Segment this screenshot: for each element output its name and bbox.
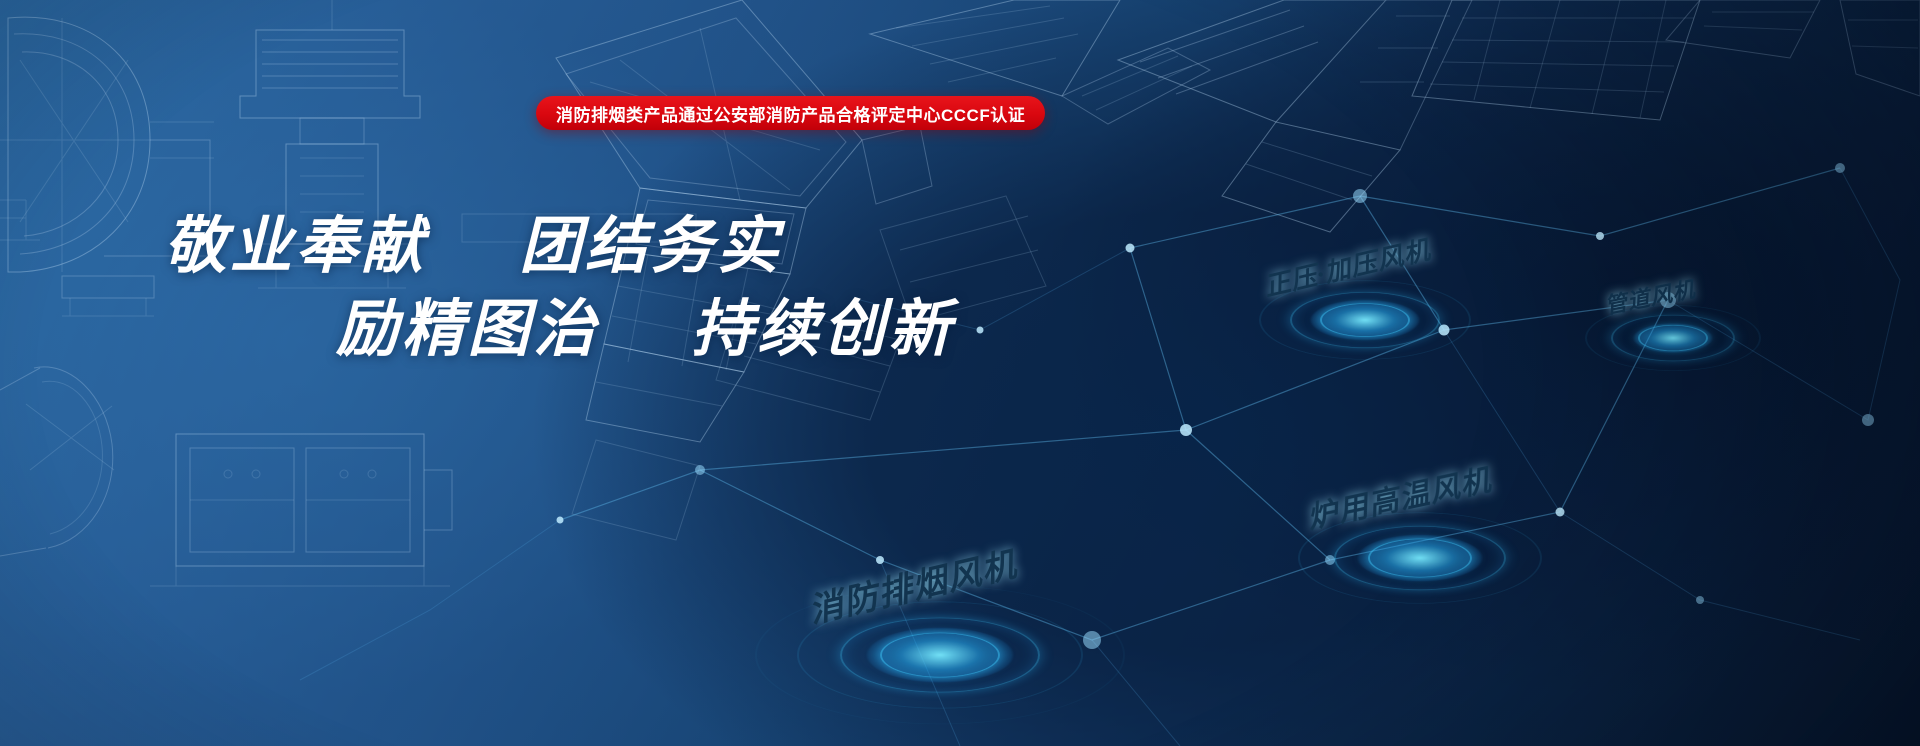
air-handling-unit-drawing <box>150 434 452 586</box>
product-label-pressurized-fan-text: 正压·加压风机 <box>1261 235 1433 301</box>
certification-badge: 消防排烟类产品通过公安部消防产品合格评定中心CCCF认证 <box>536 96 1045 130</box>
hopper-duct-drawing <box>1118 0 1472 232</box>
slogan-line2-part1: 励精图治 <box>336 296 599 364</box>
axial-fan-drawing <box>0 367 114 556</box>
hero-banner: 消防排烟类产品通过公安部消防产品合格评定中心CCCF认证 敬业奉献 团结务实 励… <box>0 0 1920 746</box>
product-label-smoke-exhaust-fan: 消防排烟风机 <box>803 537 1021 632</box>
product-label-high-temp-fan-text: 炉用高温风机 <box>1304 464 1494 535</box>
louver-panel-drawing <box>1412 0 1820 120</box>
frame-structure-drawing <box>1840 0 1920 96</box>
slogan-line1-part1: 敬业奉献 <box>164 213 427 281</box>
product-label-high-temp-fan: 炉用高温风机 <box>1302 455 1494 537</box>
slogan-line2-part2: 持续创新 <box>691 296 954 364</box>
slogan-line-2: 励精图治 持续创新 <box>150 298 910 363</box>
slogan-line1-part2: 团结务实 <box>519 213 782 281</box>
product-label-pressurized-fan: 正压·加压风机 <box>1260 229 1434 303</box>
product-label-duct-fan-text: 管道风机 <box>1603 276 1698 318</box>
product-label-smoke-exhaust-fan-text: 消防排烟风机 <box>805 547 1020 631</box>
product-label-duct-fan: 管道风机 <box>1602 272 1698 321</box>
slogan-block: 敬业奉献 团结务实 励精图治 持续创新 <box>150 215 910 363</box>
slogan-line-1: 敬业奉献 团结务实 <box>150 215 910 280</box>
